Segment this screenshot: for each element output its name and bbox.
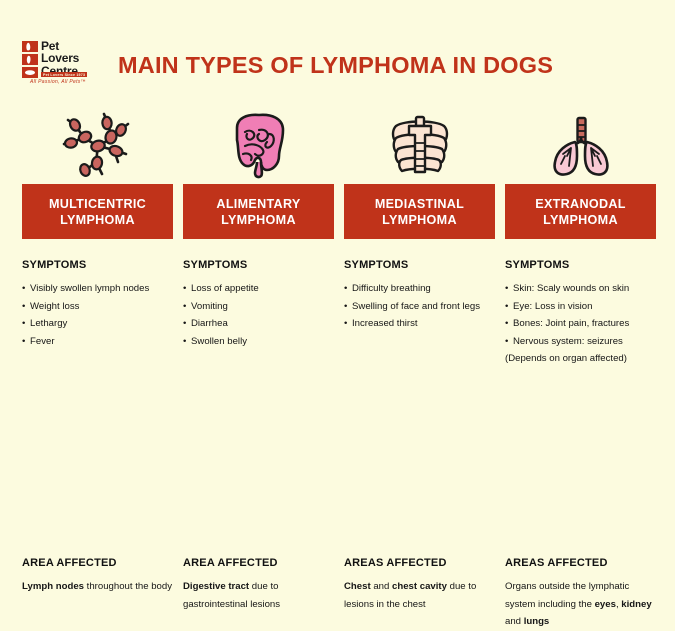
bone-icon	[22, 67, 38, 78]
type-title-line-2: LYMPHOMA	[509, 212, 652, 228]
symptoms-heading: SYMPTOMS	[183, 259, 334, 271]
type-title-line-2: LYMPHOMA	[187, 212, 330, 228]
type-header-bar: MULTICENTRIC LYMPHOMA	[22, 184, 173, 239]
lymphoma-type-card: MEDIASTINAL LYMPHOMA SYMPTOMS Difficulty…	[344, 104, 495, 474]
symptoms-list: Skin: Scaly wounds on skin Eye: Loss in …	[505, 280, 656, 368]
cat-icon	[22, 41, 38, 52]
list-item: Swelling of face and front legs	[344, 298, 495, 316]
symptoms-list: Visibly swollen lymph nodes Weight loss …	[22, 280, 173, 350]
list-item: Loss of appetite	[183, 280, 334, 298]
lymphoma-type-card: EXTRANODAL LYMPHOMA SYMPTOMS Skin: Scaly…	[505, 104, 656, 474]
type-header-bar: EXTRANODAL LYMPHOMA	[505, 184, 656, 239]
type-title-line-1: MULTICENTRIC	[26, 196, 169, 212]
list-item: Lethargy	[22, 315, 173, 333]
area-affected-block: AREA AFFECTED Digestive tract due to gas…	[183, 557, 334, 613]
list-item: Difficulty breathing	[344, 280, 495, 298]
list-item: Increased thirst	[344, 315, 495, 333]
area-affected-heading: AREAS AFFECTED	[344, 557, 495, 569]
intestines-icon	[183, 104, 334, 184]
area-affected-block: AREAS AFFECTED Organs outside the lympha…	[505, 557, 656, 631]
type-title-line-2: LYMPHOMA	[26, 212, 169, 228]
dog-icon	[22, 54, 38, 65]
logo-line-2: Lovers	[41, 52, 81, 64]
lungs-icon	[505, 104, 656, 184]
area-affected-heading: AREAS AFFECTED	[505, 557, 656, 569]
lymph-node-network-icon	[22, 104, 173, 184]
infographic-page: Pet Lovers Centre. Pet Lovers Since 1973…	[0, 0, 675, 539]
type-header-bar: MEDIASTINAL LYMPHOMA	[344, 184, 495, 239]
list-item: Nervous system: seizures	[505, 333, 656, 351]
logo-tagline: All Passion, All Pets™	[30, 79, 86, 85]
type-title-line-1: EXTRANODAL	[509, 196, 652, 212]
area-affected-heading: AREA AFFECTED	[183, 557, 334, 569]
symptoms-list: Difficulty breathing Swelling of face an…	[344, 280, 495, 333]
symptoms-heading: SYMPTOMS	[344, 259, 495, 271]
logo-icon-stack	[22, 41, 38, 78]
area-affected-text: Chest and chest cavity due to lesions in…	[344, 578, 495, 613]
type-title-line-1: MEDIASTINAL	[348, 196, 491, 212]
area-affected-block: AREA AFFECTED Lymph nodes throughout the…	[22, 557, 173, 596]
list-item: Skin: Scaly wounds on skin	[505, 280, 656, 298]
list-item: Fever	[22, 333, 173, 351]
list-item: Swollen belly	[183, 333, 334, 351]
symptoms-note: (Depends on organ affected)	[505, 350, 656, 368]
type-title-line-2: LYMPHOMA	[348, 212, 491, 228]
page-header: Pet Lovers Centre. Pet Lovers Since 1973…	[0, 0, 675, 100]
area-affected-block: AREAS AFFECTED Chest and chest cavity du…	[344, 557, 495, 613]
list-item: Eye: Loss in vision	[505, 298, 656, 316]
area-affected-heading: AREA AFFECTED	[22, 557, 173, 569]
area-affected-text: Organs outside the lymphatic system incl…	[505, 578, 656, 631]
area-affected-text: Digestive tract due to gastrointestinal …	[183, 578, 334, 613]
type-title-line-1: ALIMENTARY	[187, 196, 330, 212]
symptoms-heading: SYMPTOMS	[22, 259, 173, 271]
lymphoma-type-card: MULTICENTRIC LYMPHOMA SYMPTOMS Visibly s…	[22, 104, 173, 474]
ribcage-icon	[344, 104, 495, 184]
list-item: Weight loss	[22, 298, 173, 316]
logo-established: Pet Lovers Since 1973	[41, 72, 87, 77]
type-header-bar: ALIMENTARY LYMPHOMA	[183, 184, 334, 239]
page-title: MAIN TYPES OF LYMPHOMA IN DOGS	[118, 52, 618, 79]
symptoms-list: Loss of appetite Vomiting Diarrhea Swoll…	[183, 280, 334, 350]
brand-logo: Pet Lovers Centre. Pet Lovers Since 1973…	[22, 41, 90, 85]
list-item: Vomiting	[183, 298, 334, 316]
list-item: Visibly swollen lymph nodes	[22, 280, 173, 298]
list-item: Diarrhea	[183, 315, 334, 333]
list-item: Bones: Joint pain, fractures	[505, 315, 656, 333]
area-affected-text: Lymph nodes throughout the body	[22, 578, 173, 596]
lymphoma-type-card: ALIMENTARY LYMPHOMA SYMPTOMS Loss of app…	[183, 104, 334, 474]
symptoms-heading: SYMPTOMS	[505, 259, 656, 271]
lymphoma-types-grid: MULTICENTRIC LYMPHOMA SYMPTOMS Visibly s…	[22, 104, 656, 474]
